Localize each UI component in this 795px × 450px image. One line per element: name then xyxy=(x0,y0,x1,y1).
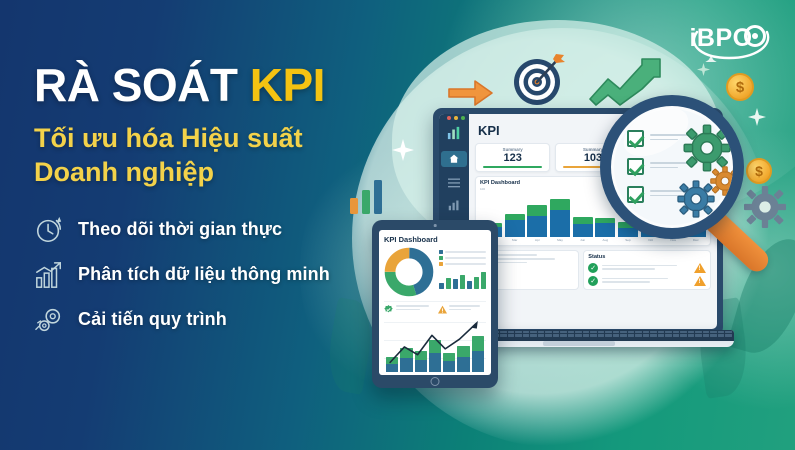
mini-bar xyxy=(481,272,486,288)
keyboard-key[interactable] xyxy=(725,334,732,336)
list-item-label: Phân tích dữ liệu thông minh xyxy=(78,264,330,285)
x-tick-label: May xyxy=(550,238,570,242)
warning-triangle-icon xyxy=(438,305,447,314)
keyboard-key[interactable] xyxy=(500,334,507,336)
keyboard-key[interactable] xyxy=(598,334,605,336)
bar-column xyxy=(573,217,593,237)
keyboard-key[interactable] xyxy=(718,334,725,336)
keyboard-key[interactable] xyxy=(665,334,672,336)
gear-green-icon xyxy=(683,124,731,172)
keyboard-key[interactable] xyxy=(598,331,605,333)
window-dots xyxy=(447,116,465,120)
keyboard-key[interactable] xyxy=(538,334,545,336)
keyboard-key[interactable] xyxy=(508,334,515,336)
keyboard-key[interactable] xyxy=(643,331,650,333)
keyboard-key[interactable] xyxy=(545,331,552,333)
keyboard-key[interactable] xyxy=(590,334,597,336)
x-tick-label: Apr xyxy=(527,238,547,242)
mini-bar xyxy=(467,281,472,289)
hero-subtitle: Tối ưu hóa Hiệu suất Doanh nghiệp xyxy=(34,121,394,189)
list-item-label: Cải tiến quy trình xyxy=(78,309,227,330)
keyboard-key[interactable] xyxy=(538,331,545,333)
menu-icon[interactable] xyxy=(448,178,460,188)
mini-bar xyxy=(446,278,451,288)
tablet-mockup: KPI Dashboard xyxy=(372,220,498,388)
checklist-row[interactable] xyxy=(627,130,690,147)
keyboard-key[interactable] xyxy=(500,331,507,333)
list-item: Cải tiến quy trình xyxy=(34,305,394,335)
keyboard-key[interactable] xyxy=(590,331,597,333)
headline-accent: KPI xyxy=(250,59,325,111)
gear-blue-icon xyxy=(677,180,715,218)
keyboard-key[interactable] xyxy=(658,331,665,333)
page-title: RÀ SOÁT KPI xyxy=(34,62,394,109)
subtitle-line-1: Tối ưu hóa Hiệu suất xyxy=(34,121,394,155)
tablet-camera xyxy=(434,224,437,227)
trend-line xyxy=(384,318,486,372)
window-close-dot[interactable] xyxy=(447,116,451,120)
logo-text: iBPO xyxy=(689,24,752,52)
mini-bar xyxy=(453,279,458,288)
bar-chart-trend-icon xyxy=(34,260,64,290)
card-value: 123 xyxy=(480,152,545,164)
donut-legend xyxy=(439,247,486,297)
legend-swatch xyxy=(439,262,443,266)
keyboard-key[interactable] xyxy=(605,334,612,336)
keyboard-key[interactable] xyxy=(703,331,710,333)
arrow-right-icon xyxy=(447,78,495,108)
clock-refresh-icon xyxy=(34,215,64,245)
keyboard-key[interactable] xyxy=(575,331,582,333)
keyboard-key[interactable] xyxy=(515,334,522,336)
target-dartboard-icon xyxy=(507,48,569,110)
list-item: Theo dõi thời gian thực xyxy=(34,215,394,245)
keyboard-key[interactable] xyxy=(673,331,680,333)
magnifier xyxy=(600,95,795,291)
checkbox-checked-icon[interactable] xyxy=(627,130,644,147)
keyboard-key[interactable] xyxy=(628,334,635,336)
keyboard-key[interactable] xyxy=(635,331,642,333)
keyboard-key[interactable] xyxy=(703,334,710,336)
sparkle-icon xyxy=(392,139,414,161)
window-maximize-dot[interactable] xyxy=(461,116,465,120)
keyboard-key[interactable] xyxy=(710,331,717,333)
keyboard-key[interactable] xyxy=(508,331,515,333)
tablet-title: KPI Dashboard xyxy=(384,235,486,244)
gears-icon xyxy=(34,305,64,335)
mini-bar xyxy=(439,283,444,289)
keyboard-key[interactable] xyxy=(620,331,627,333)
keyboard-key[interactable] xyxy=(575,334,582,336)
brand-logo[interactable]: iBPO xyxy=(681,16,777,62)
status-icons-row xyxy=(384,305,486,314)
keyboard-key[interactable] xyxy=(568,331,575,333)
headline-main: RÀ SOÁT xyxy=(34,59,238,111)
keyboard-key[interactable] xyxy=(583,331,590,333)
subtitle-line-2: Doanh nghiệp xyxy=(34,155,394,189)
sidebar-item-home[interactable] xyxy=(441,151,467,167)
keyboard-key[interactable] xyxy=(718,331,725,333)
laptop-trackpad[interactable] xyxy=(543,341,615,346)
keyboard-key[interactable] xyxy=(530,331,537,333)
hero-text-block: RÀ SOÁT KPI Tối ưu hóa Hiệu suất Doanh n… xyxy=(34,62,394,350)
x-tick-label: Mar xyxy=(505,238,525,242)
bar-column xyxy=(527,205,547,237)
keyboard-key[interactable] xyxy=(620,334,627,336)
keyboard-key[interactable] xyxy=(515,331,522,333)
keyboard-key[interactable] xyxy=(635,334,642,336)
checklist-row[interactable] xyxy=(627,158,690,175)
keyboard-key[interactable] xyxy=(680,331,687,333)
keyboard-key[interactable] xyxy=(688,331,695,333)
keyboard-key[interactable] xyxy=(725,331,732,333)
list-item-label: Theo dõi thời gian thực xyxy=(78,219,282,240)
keyboard-key[interactable] xyxy=(695,331,702,333)
summary-card[interactable]: Summary 123 xyxy=(475,143,550,172)
tablet-screen: KPI Dashboard xyxy=(379,230,491,375)
app-logo-icon[interactable] xyxy=(447,126,461,140)
legend-swatch xyxy=(439,250,443,254)
donut-chart xyxy=(384,247,434,297)
check-circle-icon: ✓ xyxy=(588,276,598,286)
keyboard-key[interactable] xyxy=(553,331,560,333)
keyboard-key[interactable] xyxy=(523,334,530,336)
magnifier-lens xyxy=(600,95,744,239)
tablet-home-button[interactable] xyxy=(431,377,440,386)
list-item: Phân tích dữ liệu thông minh xyxy=(34,260,394,290)
x-tick-label: Jun xyxy=(573,238,593,242)
keyboard-key[interactable] xyxy=(613,331,620,333)
keyboard-key[interactable] xyxy=(605,331,612,333)
keyboard-key[interactable] xyxy=(643,334,650,336)
bar-column xyxy=(505,214,525,238)
keyboard-key[interactable] xyxy=(710,334,717,336)
keyboard-key[interactable] xyxy=(628,331,635,333)
feature-list: Theo dõi thời gian thực Phân tích dữ liệ… xyxy=(34,215,394,335)
analytics-icon[interactable] xyxy=(448,199,460,211)
bar-column xyxy=(550,199,570,238)
keyboard-key[interactable] xyxy=(665,331,672,333)
home-icon xyxy=(449,154,459,164)
poster-canvas: iBPO $ $ xyxy=(0,0,795,450)
checkbox-checked-icon[interactable] xyxy=(627,186,644,203)
keyboard-key[interactable] xyxy=(658,334,665,336)
check-badge-icon xyxy=(384,305,393,314)
keyboard-key[interactable] xyxy=(650,334,657,336)
mini-bar xyxy=(460,275,465,289)
keyboard-key[interactable] xyxy=(553,334,560,336)
keyboard-key[interactable] xyxy=(650,331,657,333)
keyboard-key[interactable] xyxy=(545,334,552,336)
keyboard-key[interactable] xyxy=(583,334,590,336)
keyboard-key[interactable] xyxy=(568,334,575,336)
sparkle-icon xyxy=(697,63,710,76)
keyboard-key[interactable] xyxy=(673,334,680,336)
mini-bar-chart xyxy=(439,269,486,289)
keyboard-key[interactable] xyxy=(680,334,687,336)
keyboard-key[interactable] xyxy=(613,334,620,336)
legend-swatch xyxy=(439,256,443,260)
keyboard-key[interactable] xyxy=(523,331,530,333)
combo-chart xyxy=(384,318,486,372)
card-progress-bar xyxy=(483,166,542,168)
keyboard-key[interactable] xyxy=(560,331,567,333)
keyboard-key[interactable] xyxy=(560,334,567,336)
keyboard-key[interactable] xyxy=(530,334,537,336)
keyboard-key[interactable] xyxy=(688,334,695,336)
window-minimize-dot[interactable] xyxy=(454,116,458,120)
keyboard-key[interactable] xyxy=(695,334,702,336)
donut-section xyxy=(384,247,486,297)
mini-bar xyxy=(474,277,479,289)
check-circle-icon: ✓ xyxy=(588,263,598,273)
checkbox-checked-icon[interactable] xyxy=(627,158,644,175)
